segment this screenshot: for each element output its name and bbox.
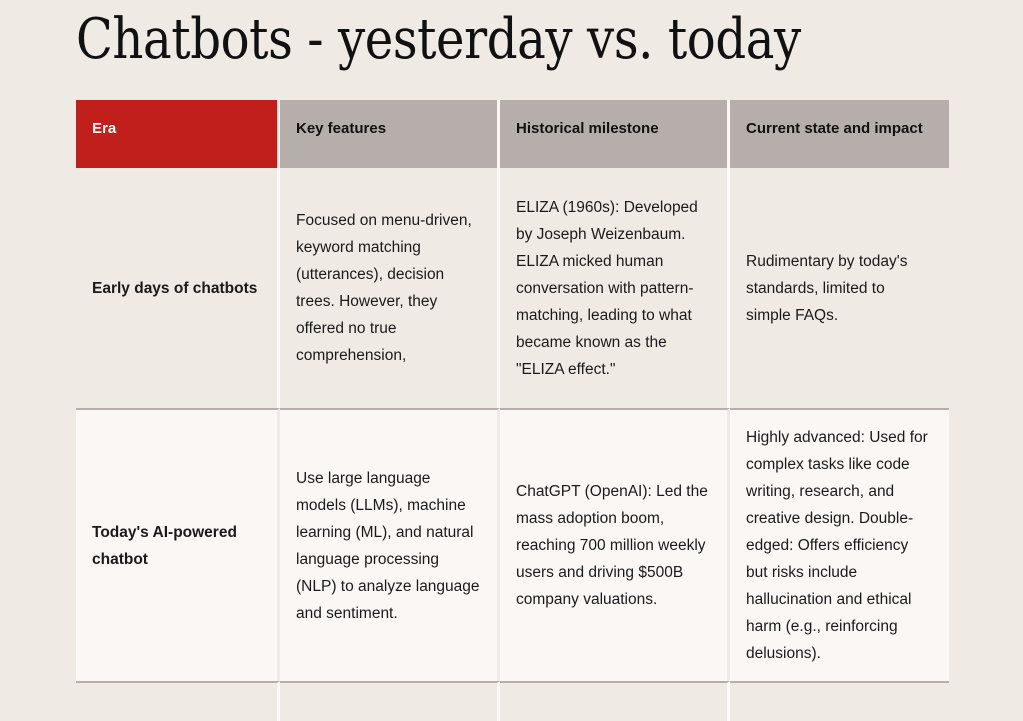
cell-historical-milestone <box>500 681 730 721</box>
cell-key-features: Use large language models (LLMs), machin… <box>280 408 500 681</box>
table-header-row: Era Key features Historical milestone Cu… <box>76 100 949 168</box>
cell-era: Today's AI-powered chatbot <box>76 408 280 681</box>
cell-era: Early days of chatbots <box>76 168 280 408</box>
cell-era <box>76 681 280 721</box>
table-header: Era Key features Historical milestone Cu… <box>76 100 949 168</box>
cell-key-features-text: Focused on menu-driven, keyword matching… <box>296 207 481 369</box>
page-title: Chatbots - yesterday vs. today <box>76 4 801 76</box>
cell-historical-milestone-text: ChatGPT (OpenAI): Led the mass adoption … <box>516 478 711 613</box>
cell-key-features-text: Use large language models (LLMs), machin… <box>296 465 481 627</box>
table-body: Early days of chatbots Focused on menu-d… <box>76 168 949 721</box>
cell-current-state <box>730 681 949 721</box>
cell-historical-milestone-text <box>516 702 711 703</box>
page-root: Chatbots - yesterday vs. today Era Key f… <box>0 0 1023 664</box>
cell-historical-milestone-text: ELIZA (1960s): Developed by Joseph Weize… <box>516 194 711 383</box>
cell-current-state-text: Highly advanced: Used for complex tasks … <box>746 424 933 667</box>
column-header-current-state[interactable]: Current state and impact <box>730 100 949 168</box>
cell-current-state-text <box>746 702 933 703</box>
comparison-table: Era Key features Historical milestone Cu… <box>76 100 949 721</box>
table-row <box>76 681 949 721</box>
column-header-historical-milestone[interactable]: Historical milestone <box>500 100 730 168</box>
cell-era-text: Today's AI-powered chatbot <box>92 519 261 573</box>
cell-key-features: Focused on menu-driven, keyword matching… <box>280 168 500 408</box>
cell-key-features <box>280 681 500 721</box>
column-header-era[interactable]: Era <box>76 100 280 168</box>
cell-era-text: Early days of chatbots <box>92 275 261 302</box>
table-row: Early days of chatbots Focused on menu-d… <box>76 168 949 408</box>
cell-current-state: Rudimentary by today's standards, limite… <box>730 168 949 408</box>
cell-key-features-text <box>296 702 481 703</box>
cell-historical-milestone: ChatGPT (OpenAI): Led the mass adoption … <box>500 408 730 681</box>
column-header-key-features[interactable]: Key features <box>280 100 500 168</box>
cell-current-state: Highly advanced: Used for complex tasks … <box>730 408 949 681</box>
cell-current-state-text: Rudimentary by today's standards, limite… <box>746 248 933 329</box>
cell-era-text <box>92 702 261 703</box>
cell-historical-milestone: ELIZA (1960s): Developed by Joseph Weize… <box>500 168 730 408</box>
table-row: Today's AI-powered chatbot Use large lan… <box>76 408 949 681</box>
comparison-table-container: Era Key features Historical milestone Cu… <box>76 100 949 721</box>
